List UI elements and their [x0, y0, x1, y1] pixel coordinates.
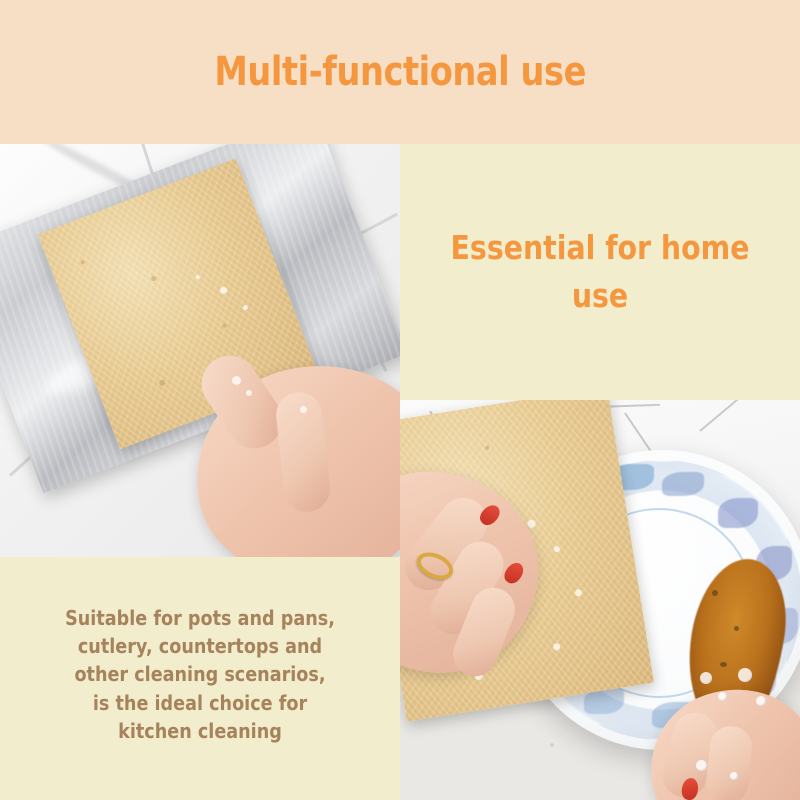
header-banner: Multi-functional use [0, 0, 800, 144]
panel-usage-caption: Suitable for pots and pans, cutlery, cou… [0, 557, 400, 800]
sponge-fiber-speck [80, 260, 85, 265]
soap-suds [696, 760, 707, 771]
sponge-foam-bubble [553, 546, 560, 553]
soap-suds [718, 692, 727, 701]
sponge-foam-bubble [195, 275, 200, 280]
caption-line: other cleaning scenarios, [37, 660, 363, 688]
floral-motif [718, 498, 758, 528]
usage-caption-text: Suitable for pots and pans, cutlery, cou… [37, 604, 363, 746]
foam-bubble [246, 390, 252, 396]
sponge-foam-bubble [242, 304, 248, 310]
sponge-fiber-speck [222, 323, 227, 328]
sauce-speck [712, 590, 718, 596]
sponge-fiber-speck [485, 446, 490, 451]
caption-line: kitchen cleaning [37, 717, 363, 745]
sponge-foam-bubble [219, 286, 228, 295]
sponge-foam-bubble [574, 589, 582, 597]
photo-sponge-cleaning-bowl [400, 400, 800, 800]
foam-bubble [232, 376, 241, 385]
soap-suds [730, 772, 738, 780]
soap-suds [738, 668, 752, 682]
soap-suds [756, 696, 766, 706]
sauce-speck [734, 626, 739, 631]
sponge-foam-bubble [527, 519, 536, 528]
floral-motif [662, 472, 704, 496]
sauce-speck [720, 662, 727, 667]
page-title: Multi-functional use [214, 49, 586, 95]
panel-heading-text: Essential for home use [438, 224, 761, 320]
photo-sponge-cleaning-knife [0, 144, 400, 557]
sponge-foam-bubble [553, 643, 561, 651]
caption-line: Suitable for pots and pans, [37, 604, 363, 632]
panel-essential-for-home-use: Essential for home use [400, 144, 800, 400]
caption-line: is the ideal choice for [37, 689, 363, 717]
soap-suds [700, 672, 712, 684]
foam-bubble [300, 406, 307, 413]
caption-line: cutlery, countertops and [37, 632, 363, 660]
sponge-fiber-speck [151, 275, 157, 281]
sponge-fiber-speck [158, 379, 166, 387]
infographic-canvas: Multi-functional use [0, 0, 800, 800]
